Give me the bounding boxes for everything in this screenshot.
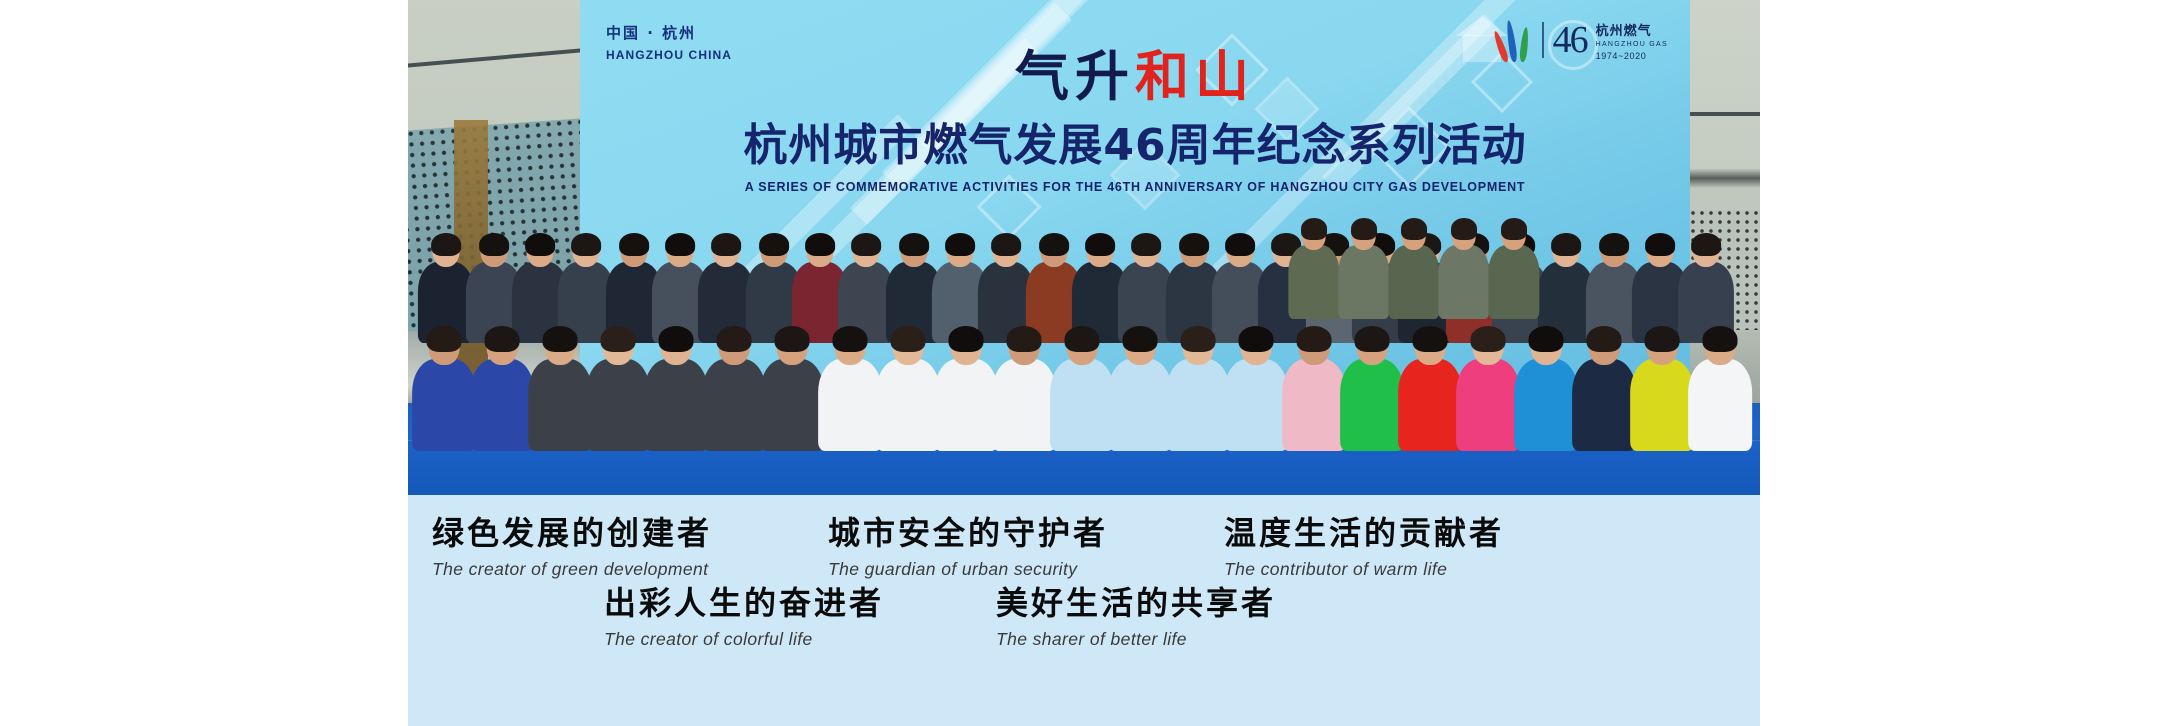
person-body xyxy=(1166,359,1230,451)
person-body xyxy=(644,359,708,451)
person-body xyxy=(1388,245,1439,319)
person-hair xyxy=(1039,233,1069,256)
person-hair xyxy=(431,233,461,256)
anniversary-number: 46 xyxy=(1553,21,1587,59)
person-body xyxy=(934,359,998,451)
person-body xyxy=(992,359,1056,451)
person xyxy=(528,322,592,451)
person-body xyxy=(1338,245,1389,319)
person-hair xyxy=(1412,326,1447,352)
person xyxy=(934,322,998,451)
person xyxy=(1340,322,1404,451)
person-hair xyxy=(1122,326,1157,352)
person-hair xyxy=(542,326,577,352)
person xyxy=(1288,215,1339,319)
person-body xyxy=(1340,359,1404,451)
slogan-item: 出彩人生的奋进者 The creator of colorful life xyxy=(604,585,884,650)
person-hair xyxy=(991,233,1021,256)
logotype-char-3: 和 xyxy=(1135,45,1195,108)
person-hair xyxy=(525,233,555,256)
person-hair xyxy=(426,326,461,352)
brand-lockup: 46 杭州燃气 HANGZHOU GAS 1974~2020 xyxy=(1503,18,1668,62)
person-hair xyxy=(479,233,509,256)
person xyxy=(876,322,940,451)
person-hair xyxy=(899,233,929,256)
person-body xyxy=(1488,245,1539,319)
person-hair xyxy=(1528,326,1563,352)
person-hair xyxy=(805,233,835,256)
slogan-item: 温度生活的贡献者 The contributor of warm life xyxy=(1224,515,1504,580)
person-hair xyxy=(832,326,867,352)
person xyxy=(1338,215,1389,319)
person-body xyxy=(876,359,940,451)
person xyxy=(1438,215,1489,319)
person-hair xyxy=(716,326,751,352)
brand-name-block: 杭州燃气 HANGZHOU GAS 1974~2020 xyxy=(1596,20,1668,61)
slogan-cn: 城市安全的守护者 xyxy=(828,515,1108,552)
slogan-row-2: 出彩人生的奋进者 The creator of colorful life 美好… xyxy=(604,585,1276,650)
person-hair xyxy=(1006,326,1041,352)
person-hair xyxy=(1599,233,1629,256)
person-hair xyxy=(1645,233,1675,256)
person-hair xyxy=(1301,218,1327,239)
person-body xyxy=(1050,359,1114,451)
slogan-item: 绿色发展的创建者 The creator of green developmen… xyxy=(432,515,712,580)
slogan-cn: 出彩人生的奋进者 xyxy=(604,585,884,622)
glass-rail-bar-right xyxy=(1690,112,1760,116)
person xyxy=(1108,322,1172,451)
person xyxy=(1514,322,1578,451)
person xyxy=(1688,322,1752,451)
person xyxy=(1224,322,1288,451)
person-hair xyxy=(665,233,695,256)
logotype-char-2: 升 xyxy=(1075,45,1135,108)
person-body xyxy=(1688,359,1752,451)
location-en: HANGZHOU CHINA xyxy=(606,48,732,62)
person-body xyxy=(1224,359,1288,451)
slogan-en: The sharer of better life xyxy=(996,629,1276,650)
person-hair xyxy=(759,233,789,256)
person-body xyxy=(1572,359,1636,451)
person-hair xyxy=(571,233,601,256)
person xyxy=(1456,322,1520,451)
person xyxy=(1398,322,1462,451)
page-root: 中国 · 杭州 HANGZHOU CHINA 46 杭州燃气 HANGZHOU … xyxy=(0,0,2179,726)
person-body xyxy=(1282,359,1346,451)
slogan-cn: 美好生活的共享者 xyxy=(996,585,1276,622)
person-hair xyxy=(774,326,809,352)
group-photo: 中国 · 杭州 HANGZHOU CHINA 46 杭州燃气 HANGZHOU … xyxy=(408,0,1760,495)
person xyxy=(586,322,650,451)
person-hair xyxy=(1296,326,1331,352)
slogan-en: The contributor of warm life xyxy=(1224,559,1504,580)
person-hair xyxy=(1354,326,1389,352)
person-body xyxy=(1288,245,1339,319)
person-hair xyxy=(1586,326,1621,352)
brand-name-cn: 杭州燃气 xyxy=(1596,20,1668,39)
person-hair xyxy=(1401,218,1427,239)
person xyxy=(818,322,882,451)
flame-icon xyxy=(1503,18,1533,62)
slogan-item: 城市安全的守护者 The guardian of urban security xyxy=(828,515,1108,580)
logotype-char-1: 气 xyxy=(1015,45,1075,108)
brand-name-en: HANGZHOU GAS xyxy=(1596,41,1668,48)
location-cn: 中国 · 杭州 xyxy=(606,22,732,43)
slogan-en: The creator of colorful life xyxy=(604,629,884,650)
person-hair xyxy=(1644,326,1679,352)
content-panel: 中国 · 杭州 HANGZHOU CHINA 46 杭州燃气 HANGZHOU … xyxy=(408,0,1760,726)
person-body xyxy=(1108,359,1172,451)
person-hair xyxy=(1064,326,1099,352)
person-hair xyxy=(600,326,635,352)
slogan-item: 美好生活的共享者 The sharer of better life xyxy=(996,585,1276,650)
slogan-cn: 温度生活的贡献者 xyxy=(1224,515,1504,552)
house-roof xyxy=(1456,16,1508,36)
slogan-en: The creator of green development xyxy=(432,559,712,580)
person xyxy=(1166,322,1230,451)
slogan-row-1: 绿色发展的创建者 The creator of green developmen… xyxy=(432,515,1504,580)
person xyxy=(760,322,824,451)
person-body xyxy=(1630,359,1694,451)
person-body xyxy=(470,359,534,451)
person-body xyxy=(1514,359,1578,451)
person-body xyxy=(528,359,592,451)
person-hair xyxy=(619,233,649,256)
person-hair xyxy=(1451,218,1477,239)
person-hair xyxy=(1180,326,1215,352)
brand-years: 1974~2020 xyxy=(1596,51,1668,61)
person-hair xyxy=(1702,326,1737,352)
person-hair xyxy=(658,326,693,352)
person-body xyxy=(586,359,650,451)
person xyxy=(1488,215,1539,319)
person-hair xyxy=(1238,326,1273,352)
slogan-panel: 绿色发展的创建者 The creator of green developmen… xyxy=(408,495,1760,726)
person-hair xyxy=(484,326,519,352)
person-hair xyxy=(1225,233,1255,256)
person-hair xyxy=(1470,326,1505,352)
person xyxy=(1572,322,1636,451)
person xyxy=(1282,322,1346,451)
person xyxy=(992,322,1056,451)
person-hair xyxy=(1501,218,1527,239)
person-hair xyxy=(1551,233,1581,256)
person-body xyxy=(760,359,824,451)
person-hair xyxy=(1179,233,1209,256)
location-block: 中国 · 杭州 HANGZHOU CHINA xyxy=(606,22,732,62)
person-body xyxy=(412,359,476,451)
person-hair xyxy=(1085,233,1115,256)
person xyxy=(1388,215,1439,319)
person-hair xyxy=(1691,233,1721,256)
person-body xyxy=(1398,359,1462,451)
person-hair xyxy=(1351,218,1377,239)
divider xyxy=(1542,22,1544,58)
logotype-char-4: 山 xyxy=(1195,45,1255,108)
slogan-en: The guardian of urban security xyxy=(828,559,1108,580)
person-body xyxy=(818,359,882,451)
person-body xyxy=(1456,359,1520,451)
event-logotype: 气升和山 xyxy=(1015,50,1255,104)
person xyxy=(412,322,476,451)
person xyxy=(1050,322,1114,451)
person xyxy=(1630,322,1694,451)
crowd xyxy=(408,165,1760,495)
person-body xyxy=(702,359,766,451)
person xyxy=(702,322,766,451)
glass-rail-bar xyxy=(408,47,580,69)
person-hair xyxy=(851,233,881,256)
backdrop-title-cn: 杭州城市燃气发展46周年纪念系列活动 xyxy=(743,122,1526,170)
person-hair xyxy=(890,326,925,352)
person-hair xyxy=(948,326,983,352)
person xyxy=(470,322,534,451)
person-hair xyxy=(711,233,741,256)
person xyxy=(644,322,708,451)
slogan-cn: 绿色发展的创建者 xyxy=(432,515,712,552)
person-body xyxy=(1438,245,1489,319)
person-hair xyxy=(945,233,975,256)
person-hair xyxy=(1131,233,1161,256)
